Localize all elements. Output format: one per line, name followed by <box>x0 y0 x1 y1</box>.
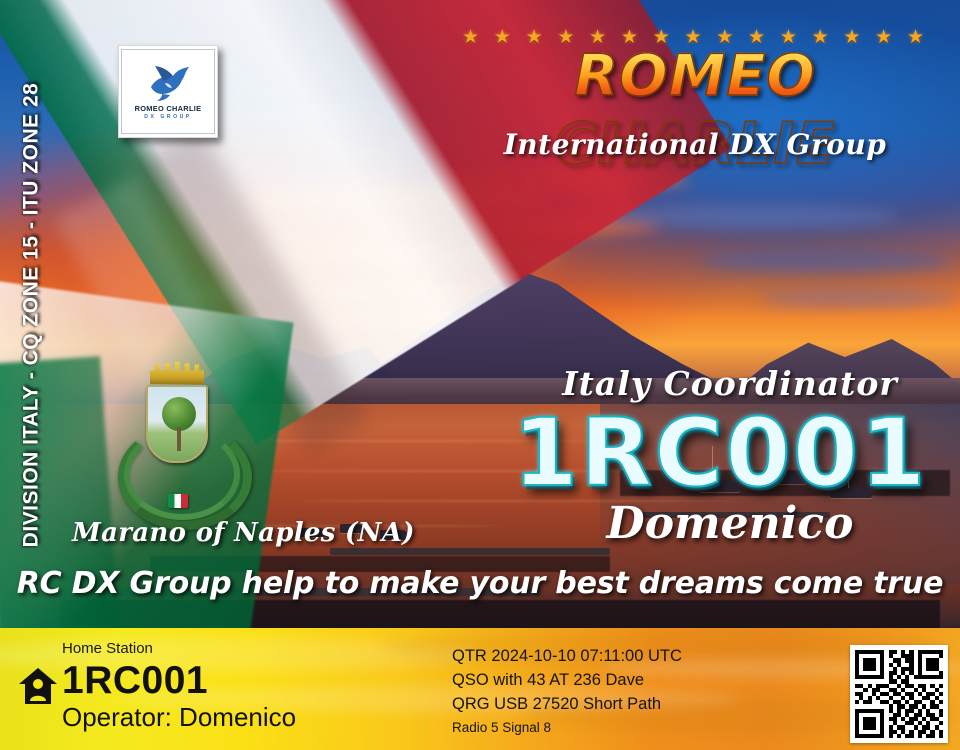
tagline-text: RC DX Group help to make your best dream… <box>0 566 960 601</box>
logo-sub: DX GROUP <box>144 114 191 120</box>
qr-code[interactable] <box>855 650 943 738</box>
callsign-large: 1RC001 <box>500 404 940 504</box>
dove-icon <box>145 63 191 103</box>
home-station-label: Home Station <box>62 640 153 657</box>
coat-of-arms <box>118 362 234 514</box>
tricolor-ribbon <box>168 494 188 508</box>
operator-name-script: Domenico <box>540 498 920 549</box>
location-text: Marano of Naples (NA) <box>72 518 415 548</box>
qso-with: QSO with 43 AT 236 Dave <box>452 668 682 692</box>
pier <box>330 548 610 555</box>
page-subtitle: International DX Group <box>455 128 935 161</box>
division-banner: DIVISION ITALY - CQ ZONE 15 - ITU ZONE 2… <box>0 0 62 630</box>
qso-details: QTR 2024-10-10 07:11:00 UTC QSO with 43 … <box>452 644 682 738</box>
qso-qrg: QRG USB 27520 Short Path <box>452 692 682 716</box>
logo-name: ROMEO CHARLIE <box>135 104 202 113</box>
footer-operator: Operator: Domenico <box>62 702 296 732</box>
role-title: Italy Coordinator <box>540 364 920 403</box>
qso-report: Radio 5 Signal 8 <box>452 718 682 738</box>
qso-qtr: QTR 2024-10-10 07:11:00 UTC <box>452 644 682 668</box>
qsl-card: DIVISION ITALY - CQ ZONE 15 - ITU ZONE 2… <box>0 0 960 750</box>
cloud <box>700 250 950 272</box>
crown-icon <box>150 362 204 384</box>
home-icon <box>18 667 58 705</box>
romeo-charlie-logo: ROMEO CHARLIE DX GROUP <box>118 45 218 138</box>
cloud <box>600 205 900 229</box>
qr-code-box[interactable] <box>850 645 948 743</box>
cloud <box>760 290 960 308</box>
page-title: ROMEO CHARLIE <box>455 42 935 110</box>
footer-callsign: 1RC001 <box>62 660 208 702</box>
division-banner-text: DIVISION ITALY - CQ ZONE 15 - ITU ZONE 2… <box>19 83 43 548</box>
